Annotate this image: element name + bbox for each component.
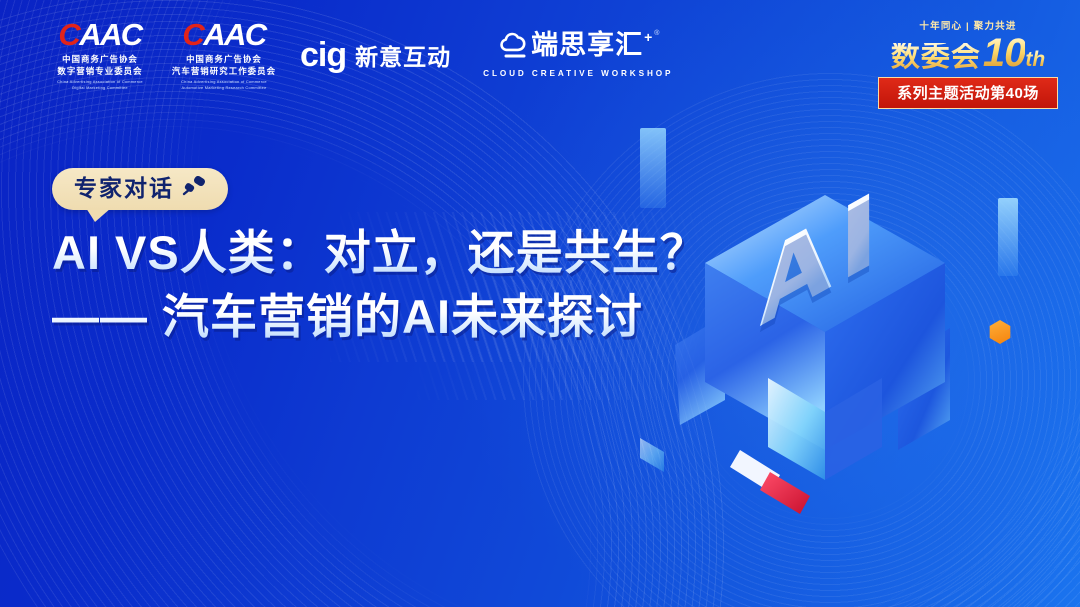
caac-wordmark: CAAC — [182, 19, 265, 50]
cloud-en-name: CLOUD CREATIVE WORKSHOP — [483, 69, 673, 78]
title-line-2: —— 汽车营销的AI未来探讨 — [52, 286, 708, 348]
logo-caac-digital-marketing: CAAC 中国商务广告协会 数字营销专业委员会 China Advertisin… — [46, 19, 154, 91]
tag-tail — [86, 208, 111, 222]
caac-wordmark: CAAC — [58, 19, 141, 50]
microphone-icon — [182, 175, 208, 202]
cloud-cn-name: 端思享汇 — [531, 32, 643, 59]
caac-en-line2: Digital Marketing Committee — [57, 85, 143, 91]
caac-letters-aac: AAC — [79, 17, 141, 52]
page-title: AI VS人类：对立，还是共生？ —— 汽车营销的AI未来探讨 — [52, 222, 708, 348]
logo-cig: cig 新意互动 — [300, 38, 451, 72]
cloud-plus-mark: + — [644, 29, 652, 45]
caac-letters-aac: AAC — [203, 17, 265, 52]
decorative-bar-right — [998, 198, 1018, 276]
caac-cn-text: 中国商务广告协会 数字营销专业委员会 — [57, 53, 142, 77]
logo-row: CAAC 中国商务广告协会 数字营销专业委员会 China Advertisin… — [0, 19, 673, 91]
registered-trademark-icon: ® — [654, 30, 659, 37]
caac-letter-c: C — [58, 17, 79, 52]
cloud-icon — [497, 32, 527, 64]
decorative-bar-left — [640, 128, 666, 208]
caac-cn-line2: 数字营销专业委员会 — [57, 65, 142, 77]
event-promo-banner: CAAC 中国商务广告协会 数字营销专业委员会 China Advertisin… — [0, 0, 1080, 607]
caac-cn-line1: 中国商务广告协会 — [172, 53, 276, 65]
tag-pill: 专家对话 — [52, 168, 228, 210]
header-logo-bar: CAAC 中国商务广告协会 数字营销专业委员会 China Advertisin… — [0, 0, 1080, 110]
caac-en-line2: Automotive Marketing Research Committee — [181, 85, 267, 91]
caac-cn-text: 中国商务广告协会 汽车营销研究工作委员会 — [172, 53, 276, 77]
logo-caac-automotive-marketing: CAAC 中国商务广告协会 汽车营销研究工作委员会 China Advertis… — [170, 19, 278, 91]
cloud-logo-main: 端思享汇 + ® — [497, 32, 659, 64]
caac-letter-c: C — [182, 17, 203, 52]
caac-cn-line2: 汽车营销研究工作委员会 — [172, 65, 276, 77]
cig-cn-name: 新意互动 — [355, 38, 451, 72]
caac-en-text: China Advertising Association of Commerc… — [57, 79, 143, 91]
caac-cn-line1: 中国商务广告协会 — [57, 53, 142, 65]
tag-label: 专家对话 — [74, 177, 174, 200]
caac-en-text: China Advertising Association of Commerc… — [181, 79, 267, 91]
expert-dialogue-tag: 专家对话 — [52, 168, 228, 210]
logo-cloud-creative-workshop: 端思享汇 + ® CLOUD CREATIVE WORKSHOP — [483, 32, 673, 78]
title-line-1: AI VS人类：对立，还是共生？ — [52, 222, 708, 284]
cig-wordmark: cig — [300, 39, 346, 71]
